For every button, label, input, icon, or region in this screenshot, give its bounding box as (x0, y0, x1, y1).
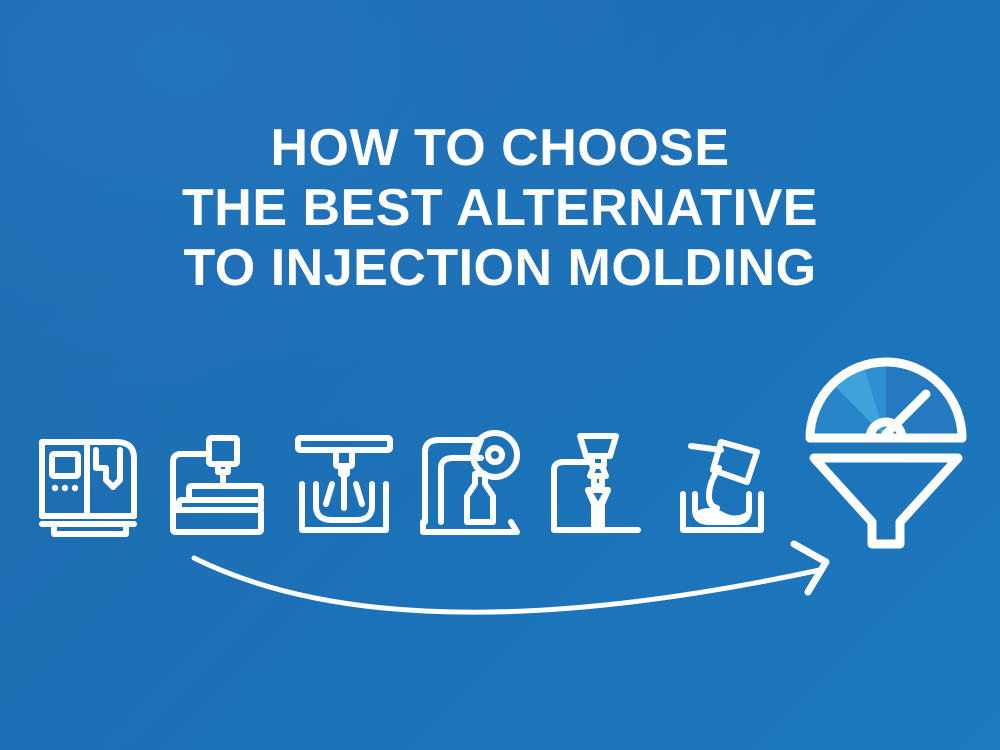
title-line-1: HOW TO CHOOSE (0, 118, 1000, 178)
title-line-3: TO INJECTION MOLDING (0, 238, 1000, 298)
3d-printing-icon (161, 424, 273, 540)
process-icon-row (34, 424, 814, 540)
page-title: HOW TO CHOOSE THE BEST ALTERNATIVE TO IN… (0, 118, 1000, 298)
pour-casting-icon (669, 424, 781, 540)
curved-flow-arrow (190, 534, 858, 630)
blow-molding-icon (415, 424, 527, 540)
infographic-banner: HOW TO CHOOSE THE BEST ALTERNATIVE TO IN… (0, 0, 1000, 750)
cnc-machining-icon (34, 424, 146, 540)
gauge-funnel-icon (800, 344, 972, 556)
extrusion-molding-icon (542, 424, 654, 540)
title-line-2: THE BEST ALTERNATIVE (0, 178, 1000, 238)
vacuum-casting-icon (288, 424, 400, 540)
